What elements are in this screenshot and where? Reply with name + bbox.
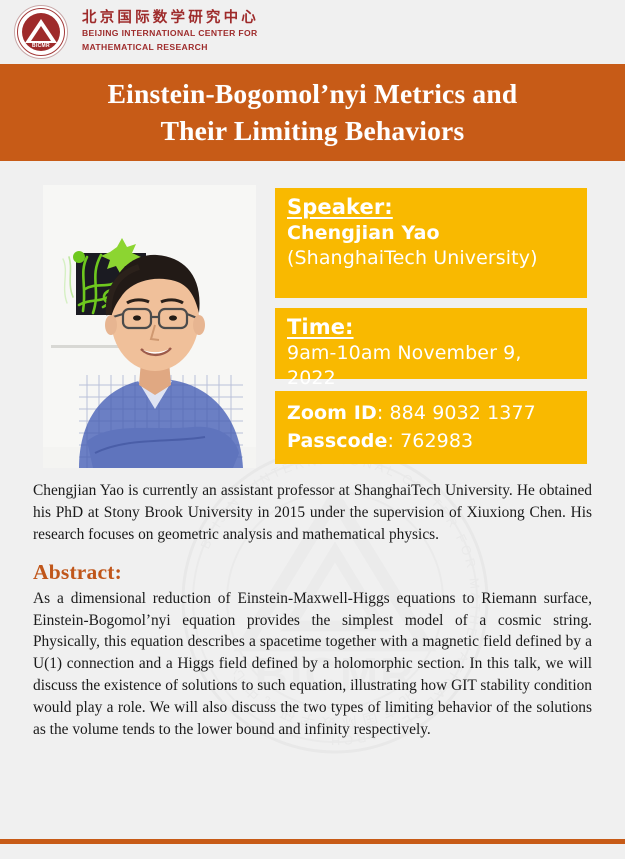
zoom-id-value: : 884 9032 1377 <box>377 402 536 424</box>
bicmr-seal-logo-icon: BICMR <box>14 5 68 59</box>
speaker-photo <box>43 185 256 468</box>
speaker-affiliation: (ShanghaiTech University) <box>287 246 575 271</box>
org-name-chinese: 北京国际数学研究中心 <box>82 10 259 27</box>
zoom-id-label: Zoom ID <box>287 402 377 424</box>
passcode-row: Passcode: 762983 <box>287 428 575 456</box>
talk-title-banner: Einstein-Bogomol’nyi Metrics and Their L… <box>0 64 625 161</box>
zoom-id-row: Zoom ID: 884 9032 1377 <box>287 400 575 428</box>
time-value: 9am-10am November 9, 2022 <box>287 341 575 391</box>
abstract-paragraph: As a dimensional reduction of Einstein-M… <box>33 588 592 741</box>
passcode-value: : 762983 <box>387 430 473 452</box>
seminar-poster: BICMR 北京国际数学研究中心 BEIJING INTERNATIONAL C… <box>0 0 625 859</box>
logo-mark-text: BICMR <box>15 43 67 49</box>
bottom-divider <box>0 839 625 844</box>
time-heading: Time: <box>287 314 575 341</box>
logo-triangle-inner <box>31 26 51 41</box>
speaker-heading: Speaker: <box>287 194 575 221</box>
abstract-heading: Abstract: <box>33 560 592 585</box>
speaker-bio-paragraph: Chengjian Yao is currently an assistant … <box>33 480 592 546</box>
time-info-box: Time: 9am-10am November 9, 2022 <box>275 308 587 379</box>
zoom-info-box: Zoom ID: 884 9032 1377 Passcode: 762983 <box>275 391 587 464</box>
speaker-info-box: Speaker: Chengjian Yao (ShanghaiTech Uni… <box>275 188 587 298</box>
header-org-text: 北京国际数学研究中心 BEIJING INTERNATIONAL CENTER … <box>82 10 259 54</box>
poster-body: Chengjian Yao is currently an assistant … <box>33 480 592 741</box>
talk-title-line2: Their Limiting Behaviors <box>161 113 465 150</box>
org-name-english-line2: MATHEMATICAL RESEARCH <box>82 41 259 53</box>
poster-header: BICMR 北京国际数学研究中心 BEIJING INTERNATIONAL C… <box>0 0 625 63</box>
passcode-label: Passcode <box>287 430 387 452</box>
talk-title-line1: Einstein-Bogomol’nyi Metrics and <box>108 76 518 113</box>
speaker-name: Chengjian Yao <box>287 221 575 246</box>
org-name-english-line1: BEIJING INTERNATIONAL CENTER FOR <box>82 27 259 39</box>
